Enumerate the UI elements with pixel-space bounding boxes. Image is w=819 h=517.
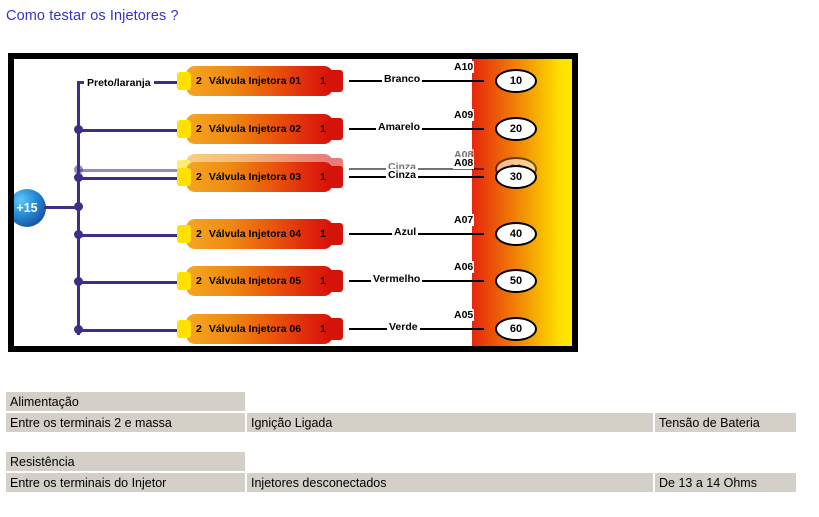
ecu-pin-number: 20 bbox=[510, 123, 522, 135]
page-title: Como testar os Injetores ? bbox=[6, 8, 179, 24]
supply-node-label: +15 bbox=[16, 201, 37, 215]
injector-box[interactable]: 2 Válvula Injetora 02 1 bbox=[186, 114, 333, 144]
terminal-2-tab bbox=[177, 72, 191, 90]
ecu-panel bbox=[472, 59, 572, 346]
terminal-2-label: 2 bbox=[196, 228, 202, 240]
injector-box[interactable]: 2 Válvula Injetora 06 1 bbox=[186, 314, 333, 344]
ecu-pin-code: A10 bbox=[453, 61, 474, 73]
terminal-2-label: 2 bbox=[196, 75, 202, 87]
injector-box[interactable]: 2 Válvula Injetora 04 1 bbox=[186, 219, 333, 249]
wire-color-label: Amarelo bbox=[376, 121, 422, 133]
spec-cell-expected: Tensão de Bateria bbox=[655, 413, 796, 432]
terminal-2-tab bbox=[177, 168, 191, 186]
terminal-2-tab bbox=[177, 320, 191, 338]
terminal-1-tab bbox=[327, 270, 343, 292]
wire-color-label: Vermelho bbox=[371, 273, 422, 285]
ecu-pin-number: 50 bbox=[510, 275, 522, 287]
ecu-pin-code: A07 bbox=[453, 214, 474, 226]
terminal-2-label: 2 bbox=[196, 275, 202, 287]
injector-label: Válvula Injetora 01 bbox=[209, 75, 301, 87]
injector-label: Válvula Injetora 04 bbox=[209, 228, 301, 240]
terminal-1-label: 1 bbox=[320, 228, 326, 240]
ecu-pin-oval: 40 bbox=[495, 222, 537, 246]
wire-color-label: Cinza bbox=[386, 169, 418, 181]
ecu-pin-code: A08 bbox=[453, 157, 474, 169]
terminal-1-label: 1 bbox=[320, 275, 326, 287]
spec-cell-expected: De 13 a 14 Ohms bbox=[655, 473, 796, 492]
terminal-2-label: 2 bbox=[196, 171, 202, 183]
terminal-1-label: 1 bbox=[320, 75, 326, 87]
injector-row: 2 Válvula Injetora 05 1 Vermelho A06 50 bbox=[14, 266, 572, 296]
wiring-diagram: +15 Preto/laranja 2 Válvula Injetora 01 … bbox=[8, 53, 578, 352]
ecu-pin-number: 10 bbox=[510, 75, 522, 87]
terminal-2-tab bbox=[177, 120, 191, 138]
terminal-1-tab bbox=[327, 118, 343, 140]
terminal-1-label: 1 bbox=[320, 171, 326, 183]
wire-color-label: Azul bbox=[392, 226, 418, 238]
terminal-1-tab bbox=[327, 166, 343, 188]
terminal-1-tab bbox=[327, 223, 343, 245]
terminal-1-tab bbox=[327, 318, 343, 340]
diagram-canvas: +15 Preto/laranja 2 Válvula Injetora 01 … bbox=[14, 59, 572, 346]
ecu-pin-oval: 60 bbox=[495, 317, 537, 341]
injector-box[interactable]: 2 Válvula Injetora 05 1 bbox=[186, 266, 333, 296]
spec-cell-condition: Ignição Ligada bbox=[247, 413, 653, 432]
bus-node-supply bbox=[74, 202, 83, 211]
table-row: Entre os terminais 2 e massa Ignição Lig… bbox=[6, 413, 796, 432]
wire-color-label: Verde bbox=[387, 321, 420, 333]
injector-box[interactable]: 2 Válvula Injetora 01 1 bbox=[186, 66, 333, 96]
spec-cell-condition: Injetores desconectados bbox=[247, 473, 653, 492]
injector-row: 2 Válvula Injetora 03 1 Cinza A08 30 2 V… bbox=[14, 162, 572, 192]
ecu-pin-oval: 50 bbox=[495, 269, 537, 293]
table-row: Entre os terminais do Injetor Injetores … bbox=[6, 473, 796, 492]
spec-cell-where: Entre os terminais 2 e massa bbox=[6, 413, 245, 432]
injector-label: Válvula Injetora 02 bbox=[209, 123, 301, 135]
spec-cell-where: Entre os terminais do Injetor bbox=[6, 473, 245, 492]
spec-table-resistencia: Resistência Entre os terminais do Injeto… bbox=[6, 452, 796, 492]
injector-label: Válvula Injetora 05 bbox=[209, 275, 301, 287]
ecu-pin-number: 60 bbox=[510, 323, 522, 335]
ecu-pin-oval: 10 bbox=[495, 69, 537, 93]
injector-row: 2 Válvula Injetora 04 1 Azul A07 40 bbox=[14, 219, 572, 249]
ecu-pin-oval: 20 bbox=[495, 117, 537, 141]
ecu-pin-code: A05 bbox=[453, 309, 474, 321]
injector-label: Válvula Injetora 06 bbox=[209, 323, 301, 335]
injector-row: 2 Válvula Injetora 06 1 Verde A05 60 bbox=[14, 314, 572, 344]
spec-table-alimentacao: Alimentação Entre os terminais 2 e massa… bbox=[6, 392, 796, 432]
spec-table-header: Resistência bbox=[6, 452, 245, 471]
ecu-pin-code: A09 bbox=[453, 109, 474, 121]
ecu-pin-number: 30 bbox=[510, 171, 522, 183]
terminal-2-tab bbox=[177, 225, 191, 243]
injector-row: 2 Válvula Injetora 01 1 Branco A10 10 bbox=[14, 66, 572, 96]
terminal-2-tab bbox=[177, 272, 191, 290]
ecu-pin-number: 40 bbox=[510, 228, 522, 240]
terminal-2-label: 2 bbox=[196, 323, 202, 335]
injector-label: Válvula Injetora 03 bbox=[209, 171, 301, 183]
terminal-2-label: 2 bbox=[196, 123, 202, 135]
ecu-pin-code: A06 bbox=[453, 261, 474, 273]
terminal-1-label: 1 bbox=[320, 123, 326, 135]
ecu-pin-oval: 30 bbox=[495, 165, 537, 189]
injector-box[interactable]: 2 Válvula Injetora 03 1 bbox=[186, 162, 333, 192]
injector-row: 2 Válvula Injetora 02 1 Amarelo A09 20 bbox=[14, 114, 572, 144]
terminal-1-label: 1 bbox=[320, 323, 326, 335]
wire-color-label: Branco bbox=[382, 73, 422, 85]
spec-table-header: Alimentação bbox=[6, 392, 245, 411]
terminal-1-tab bbox=[327, 70, 343, 92]
